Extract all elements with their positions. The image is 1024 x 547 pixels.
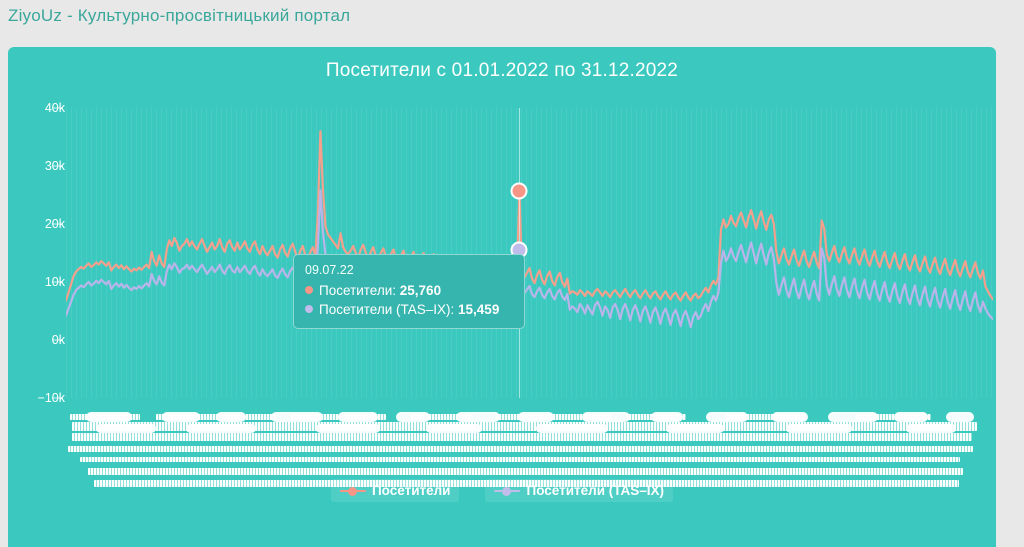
x-axis-label-smear xyxy=(906,424,956,433)
x-axis-label-smear xyxy=(772,412,808,422)
hover-marker-visitors[interactable] xyxy=(511,182,528,199)
legend-marker-icon xyxy=(494,486,520,496)
x-axis-label-smear xyxy=(68,446,973,452)
tooltip-swatch-visitors-tasix xyxy=(305,305,313,313)
tooltip-label-visitors-tasix: Посетители (TAS–IX): xyxy=(319,302,454,317)
x-axis-label-smear xyxy=(316,424,380,433)
x-axis-label-smear xyxy=(96,424,156,433)
plot-wrapper: 40k30k20k10k0k−10k 09.07.22 Посетители: … xyxy=(8,47,996,547)
legend-label-visitors-tasix: Посетители (TAS–IX) xyxy=(526,483,664,498)
x-axis-label-smear xyxy=(582,412,630,422)
hover-tooltip: 09.07.22 Посетители: 25,760 Посетители (… xyxy=(293,254,525,329)
x-axis-label-smear xyxy=(72,433,972,441)
x-axis-label-smear xyxy=(396,412,430,422)
x-axis-label-smear xyxy=(706,412,748,422)
tooltip-label-visitors: Посетители: xyxy=(319,283,396,298)
legend-label-visitors: Посетители xyxy=(372,483,451,498)
x-axis-label-smear xyxy=(536,424,608,433)
y-axis-tick-mark xyxy=(52,224,63,225)
x-axis-label-smear xyxy=(786,424,852,433)
x-axis-label-smear xyxy=(216,412,246,422)
plot-area[interactable] xyxy=(66,108,993,398)
x-axis-label-smear xyxy=(80,457,960,462)
tooltip-value-visitors-tasix: 15,459 xyxy=(458,302,499,317)
tooltip-date: 09.07.22 xyxy=(305,263,514,277)
x-axis-label-smear xyxy=(518,412,554,422)
x-axis-label-smear xyxy=(88,468,963,475)
chart-panel: Посетители с 01.01.2022 по 31.12.2022 40… xyxy=(8,47,996,547)
tooltip-row-visitors-tasix: Посетители (TAS–IX): 15,459 xyxy=(305,300,514,319)
x-axis-label-smear xyxy=(186,424,256,433)
series-line xyxy=(66,131,993,300)
x-axis-label-smear xyxy=(162,412,200,422)
legend-marker-icon xyxy=(340,486,366,496)
chart-legend: Посетители Посетители (TAS–IX) xyxy=(8,479,996,502)
x-axis-label-smear xyxy=(894,412,928,422)
x-axis-label-smear xyxy=(456,412,500,422)
x-axis-label-smear xyxy=(86,412,132,422)
series-lines xyxy=(66,108,993,398)
series-line xyxy=(66,190,993,327)
x-axis-label-smear xyxy=(271,412,323,422)
x-axis-label-smear xyxy=(666,424,724,433)
y-axis-tick-mark xyxy=(52,282,63,283)
tooltip-row-visitors: Посетители: 25,760 xyxy=(305,281,514,300)
y-axis-tick-mark xyxy=(52,398,63,399)
page-title: ZiyoUz - Культурно-просвітницький портал xyxy=(8,6,350,26)
y-axis-tick-mark xyxy=(52,340,63,341)
x-axis-label-smear xyxy=(828,412,878,422)
y-axis-tick-mark xyxy=(52,166,63,167)
x-axis-label-smear xyxy=(651,412,683,422)
legend-item-visitors-tasix[interactable]: Посетители (TAS–IX) xyxy=(485,479,673,502)
x-axis-label-smear xyxy=(426,424,482,433)
tooltip-swatch-visitors xyxy=(305,286,313,294)
y-axis-tick-mark xyxy=(52,108,63,109)
x-axis-label-smear xyxy=(946,412,974,422)
x-axis-label-smear xyxy=(338,412,378,422)
tooltip-value-visitors: 25,760 xyxy=(400,283,441,298)
legend-item-visitors[interactable]: Посетители xyxy=(331,479,460,502)
